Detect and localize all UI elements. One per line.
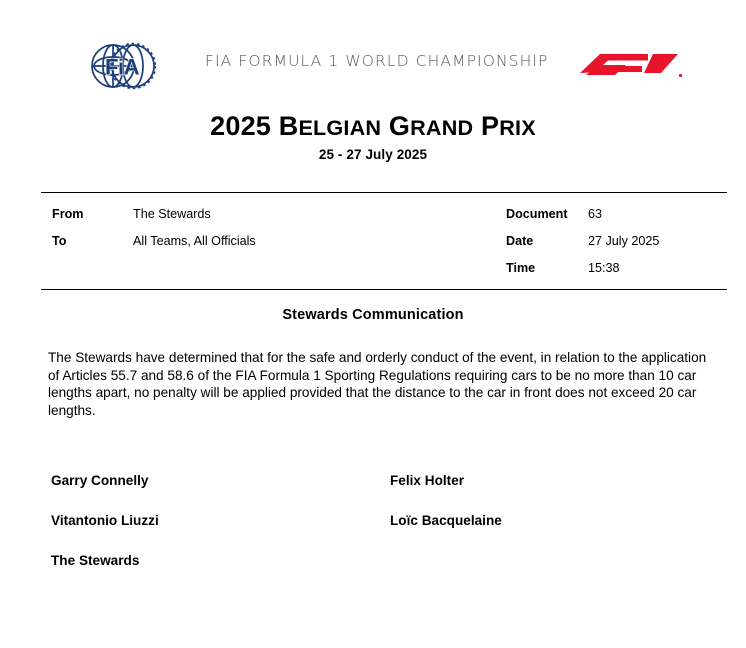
title-grand-rest: RAND [410,115,473,140]
document-label: Document [506,204,588,224]
steward-name: Felix Holter [390,472,720,512]
title-grand-initial: G [389,111,410,141]
metadata-row-document: Document63 [506,204,736,231]
svg-text:FiA: FiA [105,55,140,80]
section-heading: Stewards Communication [0,307,746,323]
to-value: All Teams, All Officials [133,231,256,251]
title-prix-rest: RIX [499,115,536,140]
document-metadata: FromThe Stewards ToAll Teams, All Offici… [0,204,746,286]
page-title: 2025 BELGIAN GRAND PRIX [0,112,746,141]
metadata-row-date: Date27 July 2025 [506,231,736,258]
title-prix-initial: P [481,111,499,141]
from-value: The Stewards [133,204,211,224]
championship-title: FIA FORMULA 1 WORLD CHAMPIONSHIP [205,52,545,70]
title-year: 2025 [210,111,271,141]
document-body-text: The Stewards have determined that for th… [48,349,707,419]
metadata-row-from: FromThe Stewards [52,204,482,231]
metadata-column-right: Document63 Date27 July 2025 Time15:38 [506,204,736,285]
event-title-block: 2025 BELGIAN GRAND PRIX 25 - 27 July 202… [0,112,746,162]
event-dates: 25 - 27 July 2025 [0,147,746,162]
steward-name: Loïc Bacquelaine [390,512,720,552]
signatures-block: Garry Connelly Vitantonio Liuzzi The Ste… [0,472,746,582]
signature-column-left: Garry Connelly Vitantonio Liuzzi The Ste… [51,472,381,592]
steward-name: The Stewards [51,552,381,592]
metadata-row-to: ToAll Teams, All Officials [52,231,482,258]
to-label: To [52,231,133,251]
divider-top [41,192,727,193]
time-label: Time [506,258,588,278]
metadata-row-time: Time15:38 [506,258,736,285]
steward-name: Garry Connelly [51,472,381,512]
document-header: FiA FIA FORMULA 1 WORLD CHAMPIONSHIP [0,38,746,94]
date-value: 27 July 2025 [588,231,659,251]
divider-middle [41,289,727,290]
fia-logo-icon: FiA [90,38,156,94]
steward-name: Vitantonio Liuzzi [51,512,381,552]
date-label: Date [506,231,588,251]
f1-logo-icon [578,47,684,81]
from-label: From [52,204,133,224]
metadata-column-left: FromThe Stewards ToAll Teams, All Offici… [52,204,482,258]
document-number-value: 63 [588,204,602,224]
fia-stewards-document: FiA FIA FORMULA 1 WORLD CHAMPIONSHIP 202… [0,0,746,648]
time-value: 15:38 [588,258,620,278]
title-country-rest: ELGIAN [298,115,381,140]
title-country-initial: B [279,111,299,141]
signature-column-right: Felix Holter Loïc Bacquelaine [390,472,720,592]
